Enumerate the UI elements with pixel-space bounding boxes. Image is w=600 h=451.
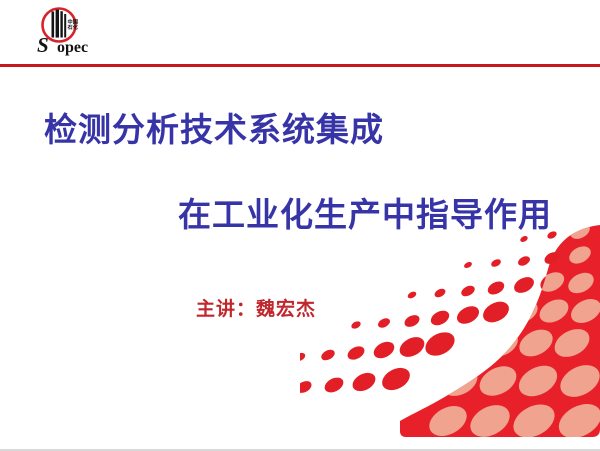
page-title-line-2: 在工业化生产中指导作用: [178, 188, 552, 236]
svg-text:opec: opec: [57, 39, 88, 56]
presenter-label: 主讲：魏宏杰: [196, 294, 316, 321]
salmon-dot-grid: [403, 225, 600, 441]
red-dot-grid: [300, 230, 591, 396]
header-divider-rule: [0, 64, 600, 67]
svg-text:石化: 石化: [67, 23, 79, 31]
sinopec-logo: 中国 石化 S opec: [28, 6, 92, 58]
red-wedge-shape: [400, 225, 600, 437]
halftone-dot-pattern: [300, 225, 600, 441]
slide-canvas: 中国 石化 S opec: [0, 0, 600, 451]
logo-chinese-mark: 中国 石化: [67, 18, 79, 32]
page-title-line-1: 检测分析技术系统集成: [44, 103, 384, 151]
logo-bars-icon: [52, 10, 67, 38]
svg-text:S: S: [37, 33, 49, 57]
